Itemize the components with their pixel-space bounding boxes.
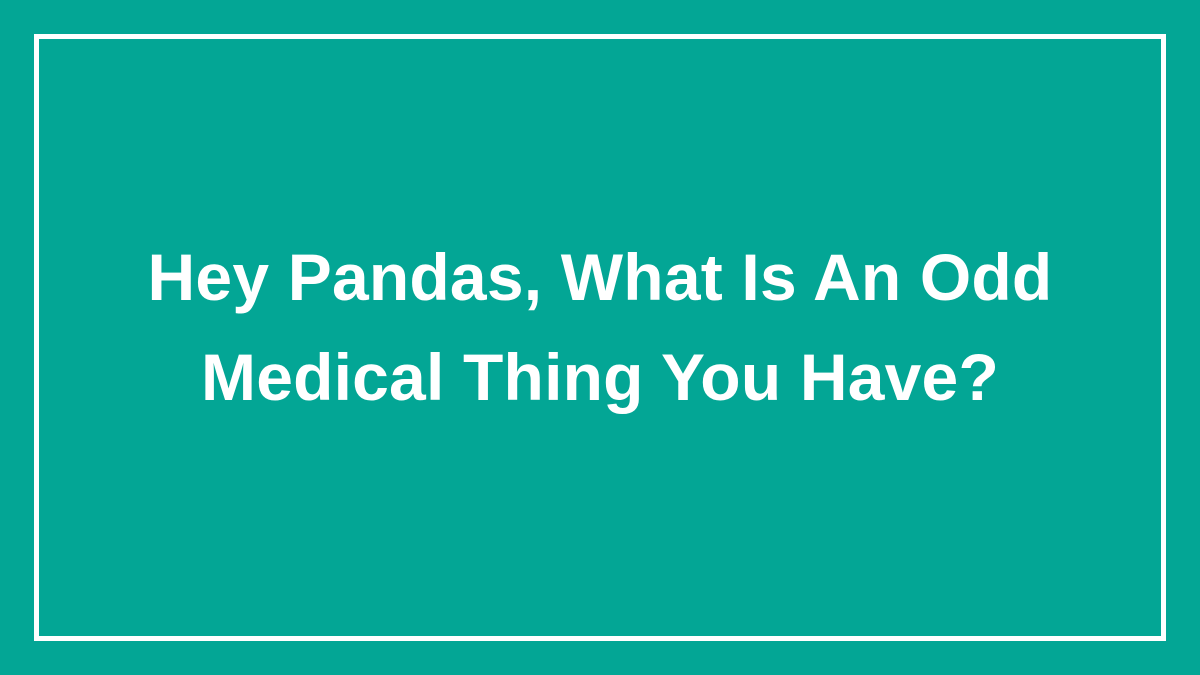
headline-line-1: Hey Pandas, What Is An Odd — [148, 227, 1053, 327]
headline-line-2: Medical Thing You Have? — [148, 327, 1053, 427]
page-title: Hey Pandas, What Is An Odd Medical Thing… — [148, 227, 1053, 427]
title-card: Hey Pandas, What Is An Odd Medical Thing… — [0, 0, 1200, 675]
card-content: Hey Pandas, What Is An Odd Medical Thing… — [34, 34, 1166, 641]
